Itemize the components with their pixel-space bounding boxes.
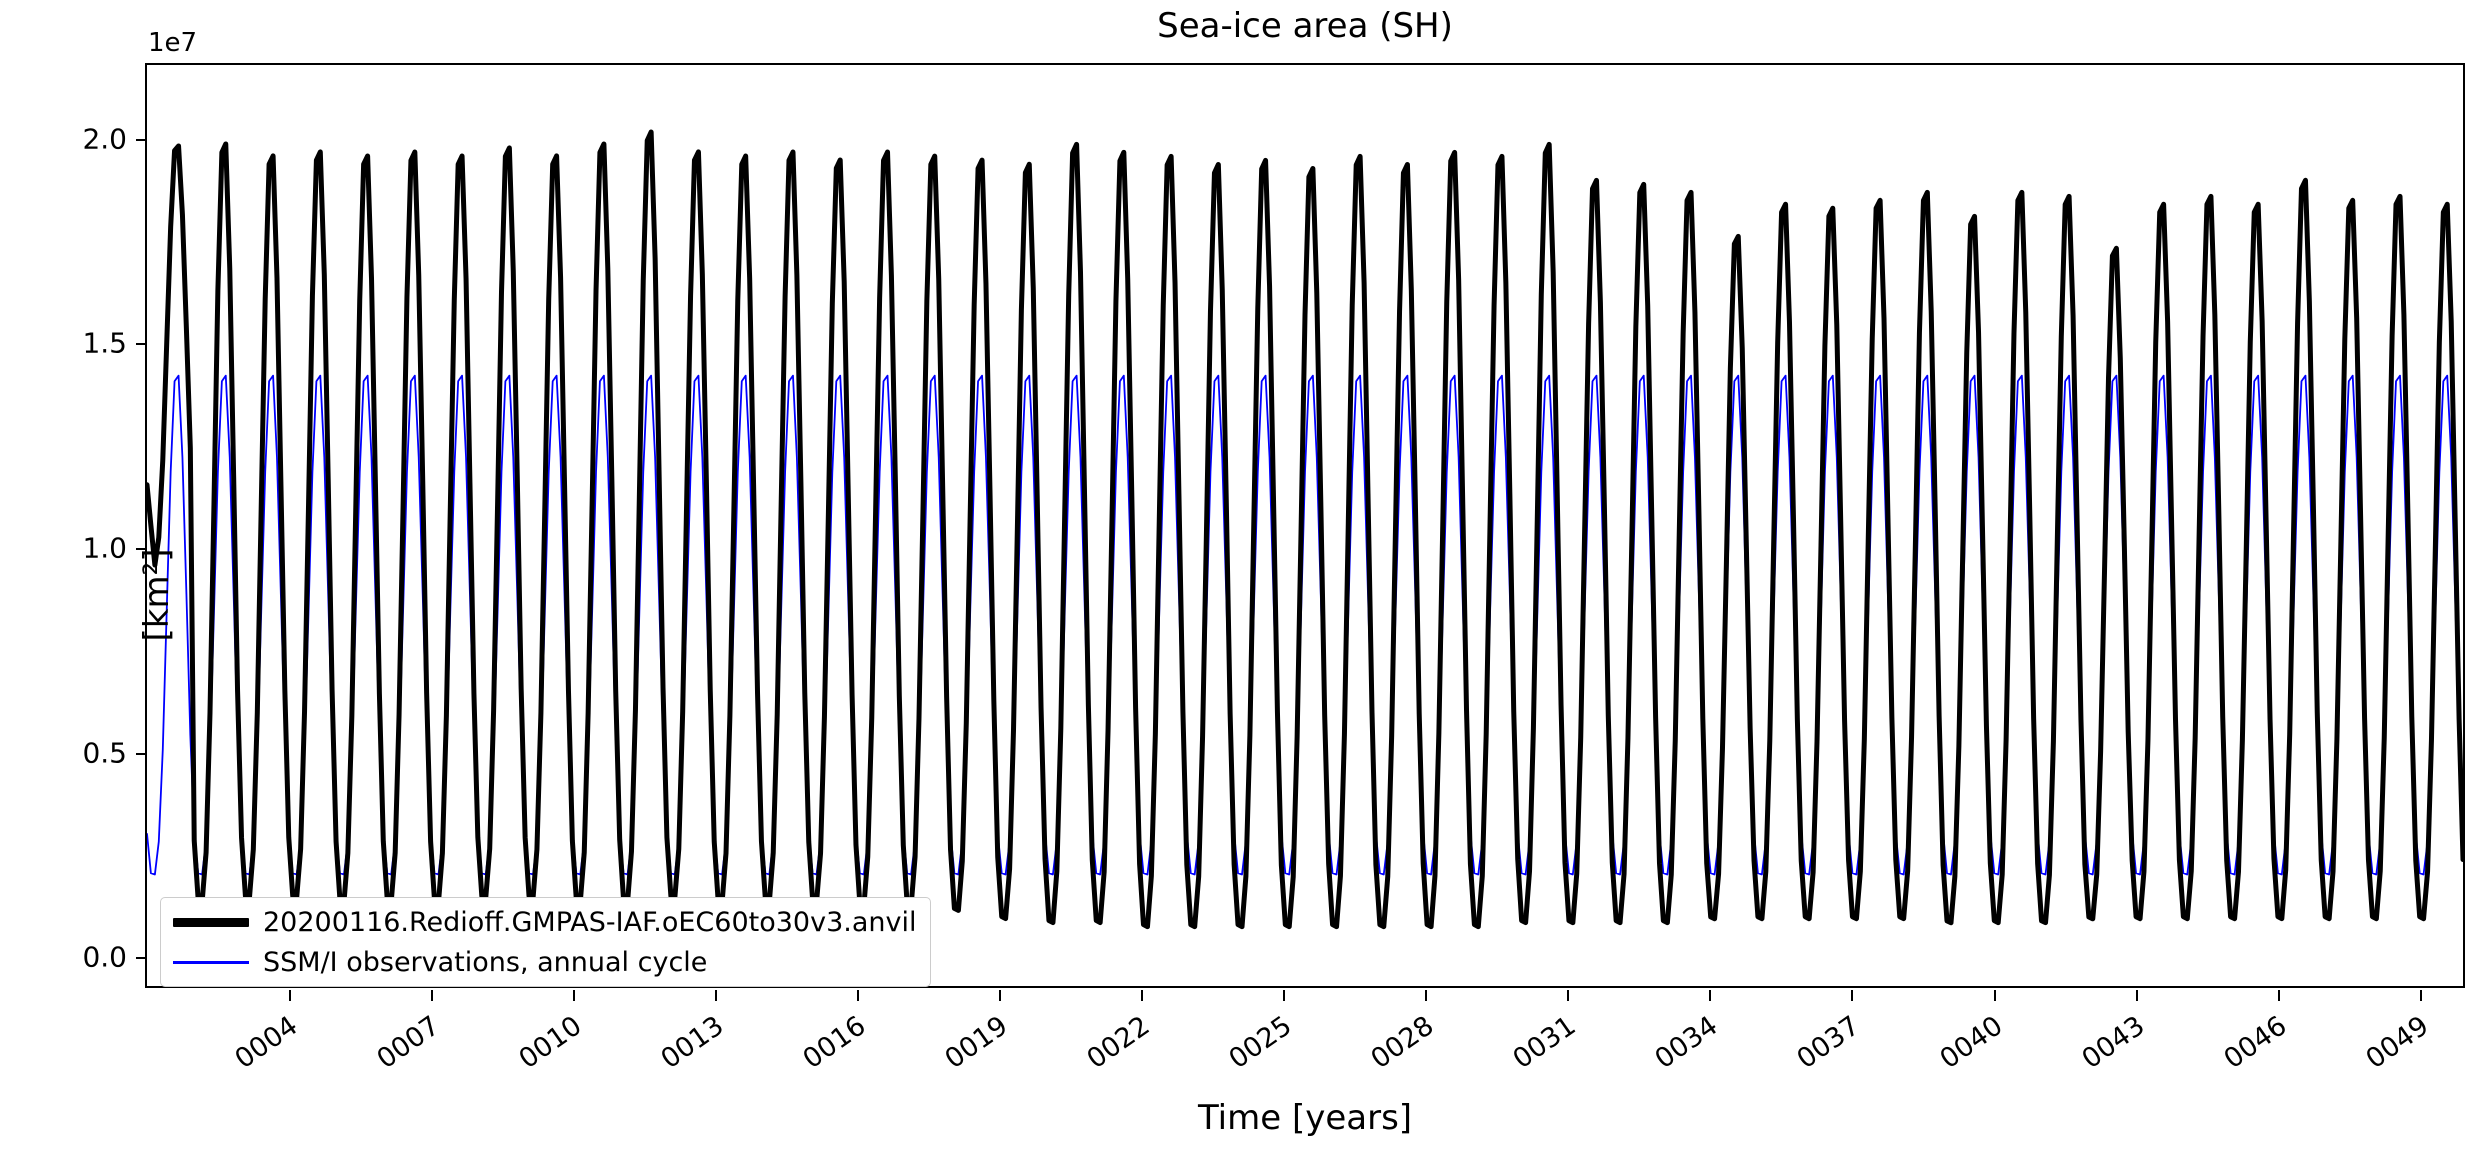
x-tick-mark	[1994, 990, 1996, 1001]
line-sample-blue-icon	[173, 961, 249, 964]
y-axis-label: [km²]	[137, 549, 177, 642]
legend-label-model: 20200116.Redioff.GMPAS-IAF.oEC60to30v3.a…	[263, 907, 916, 938]
y-tick-label: 0.0	[82, 941, 127, 974]
x-tick-label: 0016	[798, 1008, 875, 1075]
y-tick-label: 1.5	[82, 327, 127, 360]
line-sample-black-icon	[173, 918, 249, 927]
x-tick-mark	[1141, 990, 1143, 1001]
x-tick-label: 0025	[1224, 1008, 1301, 1075]
x-tick-mark	[1567, 990, 1569, 1001]
x-tick-mark	[2136, 990, 2138, 1001]
x-tick-mark	[289, 990, 291, 1001]
x-tick-label: 0007	[372, 1008, 449, 1075]
x-tick-mark	[2420, 990, 2422, 1001]
x-tick-mark	[1283, 990, 1285, 1001]
x-tick-label: 0004	[229, 1008, 306, 1075]
y-tick-mark	[136, 343, 147, 345]
series-canvas	[147, 65, 2463, 986]
legend-item-model: 20200116.Redioff.GMPAS-IAF.oEC60to30v3.a…	[173, 907, 916, 937]
y-tick-mark	[136, 753, 147, 755]
x-tick-label: 0031	[1508, 1008, 1585, 1075]
x-tick-mark	[857, 990, 859, 1001]
legend: 20200116.Redioff.GMPAS-IAF.oEC60to30v3.a…	[160, 897, 931, 987]
x-tick-label: 0037	[1792, 1008, 1869, 1075]
x-tick-mark	[1709, 990, 1711, 1001]
model-polyline	[147, 132, 2463, 927]
x-tick-label: 0022	[1082, 1008, 1159, 1075]
x-tick-label: 0013	[656, 1008, 733, 1075]
x-tick-label: 0046	[2218, 1008, 2295, 1075]
x-tick-label: 0049	[2360, 1008, 2437, 1075]
x-tick-label: 0010	[514, 1008, 591, 1075]
x-tick-label: 0019	[940, 1008, 1017, 1075]
series-line-model	[147, 132, 2463, 927]
x-tick-mark	[2278, 990, 2280, 1001]
x-tick-label: 0040	[1934, 1008, 2011, 1075]
x-axis-label: Time [years]	[145, 1098, 2465, 1138]
plot-area	[147, 65, 2463, 986]
legend-swatch-model	[173, 918, 249, 927]
y-tick-mark	[136, 957, 147, 959]
y-tick-label: 0.5	[82, 736, 127, 769]
figure-canvas: Sea-ice area (SH) 1e7 2.01.51.00.50.0 00…	[0, 0, 2490, 1151]
x-tick-label: 0028	[1366, 1008, 1443, 1075]
x-tick-mark	[999, 990, 1001, 1001]
x-tick-mark	[715, 990, 717, 1001]
y-tick-mark	[136, 139, 147, 141]
x-tick-label: 0034	[1650, 1008, 1727, 1075]
legend-label-observations: SSM/I observations, annual cycle	[263, 947, 707, 978]
y-tick-label: 2.0	[82, 122, 127, 155]
plot-axes: 2.01.51.00.50.0 000400070010001300160019…	[145, 63, 2465, 988]
legend-swatch-observations	[173, 961, 249, 964]
x-tick-mark	[1425, 990, 1427, 1001]
x-tick-mark	[1851, 990, 1853, 1001]
page-title: Sea-ice area (SH)	[145, 6, 2465, 46]
x-tick-label: 0043	[2076, 1008, 2153, 1075]
y-tick-label: 1.0	[82, 531, 127, 564]
legend-item-observations: SSM/I observations, annual cycle	[173, 947, 916, 977]
x-tick-mark	[573, 990, 575, 1001]
y-axis-offset-text: 1e7	[148, 28, 197, 58]
x-tick-mark	[431, 990, 433, 1001]
